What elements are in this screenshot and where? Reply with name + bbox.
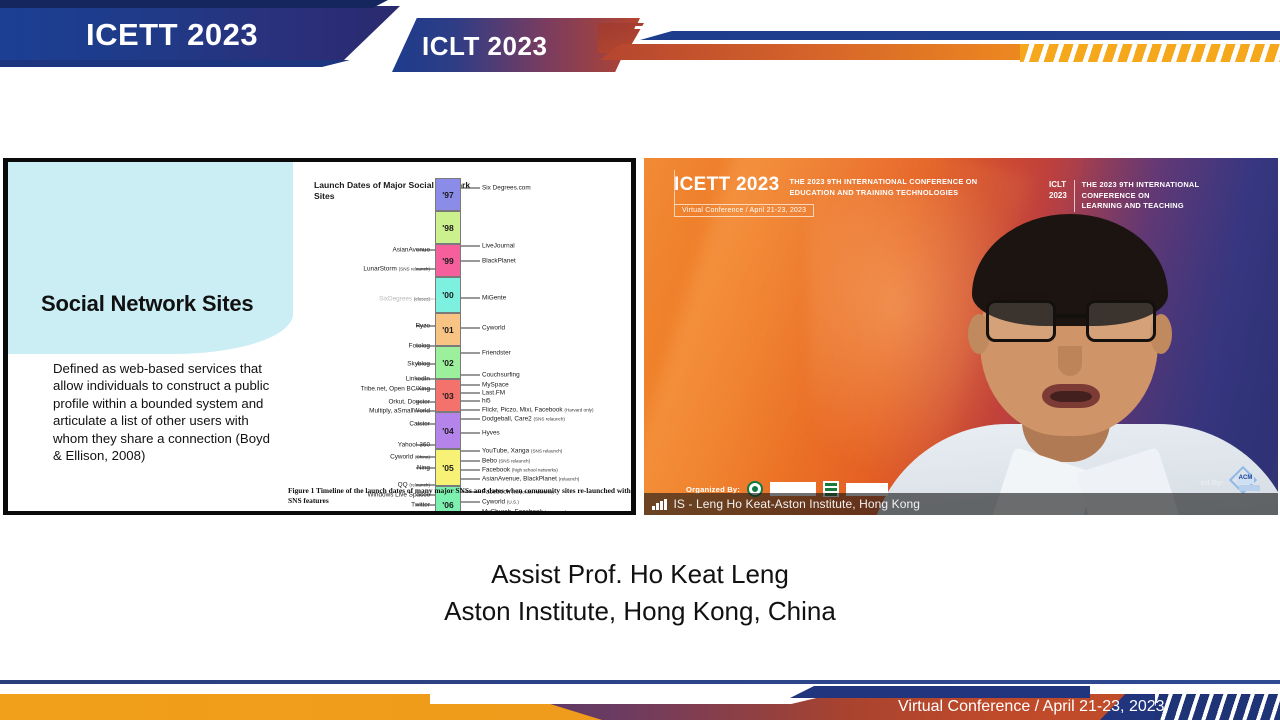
timeline-right-label: Couchsurfing bbox=[482, 372, 520, 379]
timeline-leader-line bbox=[416, 424, 435, 425]
publisher-mark-text: ACM bbox=[1237, 475, 1254, 484]
participant-name: IS - Leng Ho Keat-Aston Institute, Hong … bbox=[674, 497, 921, 511]
timeline-right-label: Cyworld bbox=[482, 325, 505, 332]
timeline-leader-line bbox=[461, 461, 480, 462]
timeline-leader-line bbox=[461, 470, 480, 471]
header-iclt-title: ICLT 2023 bbox=[422, 31, 547, 62]
content-area: Social Network Sites Defined as web-base… bbox=[0, 158, 1280, 516]
header-hatch-pattern bbox=[1020, 44, 1280, 62]
timeline-right-label: Dodgeball, Care2 (SNS relaunch) bbox=[482, 416, 565, 423]
timeline-leader-line bbox=[416, 269, 435, 270]
timeline-right-label: LiveJournal bbox=[482, 243, 515, 250]
timeline-leader-line bbox=[461, 385, 480, 386]
timeline-leader-line bbox=[461, 451, 480, 452]
timeline-band-02: '02 bbox=[435, 346, 461, 379]
header-icett-title: ICETT 2023 bbox=[86, 17, 258, 53]
timeline-leader-line bbox=[416, 326, 435, 327]
timeline-right-label: AsianAvenue, BlackPlanet (relaunch) bbox=[482, 476, 579, 483]
footer-white-wedge bbox=[430, 690, 850, 704]
timeline-leader-line bbox=[461, 433, 480, 434]
timeline-right-label: Friendster bbox=[482, 350, 511, 357]
timeline-right-label: Bebo (SNS relaunch) bbox=[482, 458, 530, 465]
timeline-band-98: '98 bbox=[435, 211, 461, 244]
timeline-leader-line bbox=[461, 188, 480, 189]
banner-virtual-tag: Virtual Conference / April 21-23, 2023 bbox=[674, 204, 814, 217]
timeline-leader-line bbox=[461, 479, 480, 480]
timeline-band-01: '01 bbox=[435, 313, 461, 346]
timeline-leader-line bbox=[461, 261, 480, 262]
timeline-leader-line bbox=[416, 299, 435, 300]
timeline-leader-line bbox=[416, 346, 435, 347]
banner-icett-desc-line1: THE 2023 9TH INTERNATIONAL CONFERENCE ON bbox=[789, 177, 977, 188]
timeline-leader-line bbox=[416, 457, 435, 458]
timeline-leader-line bbox=[461, 246, 480, 247]
timeline-right-label: Six Degrees.com bbox=[482, 185, 531, 192]
timeline-leader-line bbox=[461, 375, 480, 376]
timeline-right-label: MiGente bbox=[482, 295, 506, 302]
banner-iclt-title: ICLT bbox=[1049, 180, 1067, 191]
glasses-bridge bbox=[1056, 314, 1086, 318]
timeline-leader-line bbox=[461, 328, 480, 329]
video-panel[interactable]: ICETT 2023 THE 2023 9TH INTERNATIONAL CO… bbox=[644, 158, 1278, 515]
timeline-leader-line bbox=[461, 401, 480, 402]
timeline-leader-line bbox=[416, 402, 435, 403]
speaker-glasses bbox=[986, 300, 1156, 344]
banner-icett-title: ICETT 2023 bbox=[674, 174, 779, 194]
timeline-leader-line bbox=[416, 364, 435, 365]
timeline-leader-line bbox=[461, 419, 480, 420]
glasses-lens-right bbox=[1086, 300, 1156, 342]
footer-navy-wedge bbox=[790, 686, 1090, 698]
speaker-caption-name: Assist Prof. Ho Keat Leng bbox=[0, 556, 1280, 593]
speaker-mouth bbox=[1042, 384, 1100, 408]
header-icett-bottom-stripe bbox=[0, 60, 350, 67]
timeline-leader-line bbox=[416, 389, 435, 390]
slide-title: Social Network Sites bbox=[41, 292, 271, 316]
footer-thin-line bbox=[0, 680, 1280, 684]
timeline-right-label: Facebook (high school networks) bbox=[482, 467, 558, 474]
speaker-caption: Assist Prof. Ho Keat Leng Aston Institut… bbox=[0, 556, 1280, 630]
timeline-band-97: '97 bbox=[435, 178, 461, 211]
publisher-logo-icon: ACM bbox=[1230, 469, 1260, 495]
figure-caption: Figure 1 Timeline of the launch dates of… bbox=[288, 486, 631, 506]
presentation-slide-panel[interactable]: Social Network Sites Defined as web-base… bbox=[3, 158, 636, 515]
timeline-leader-line bbox=[416, 411, 435, 412]
timeline-band-05: '05 bbox=[435, 449, 461, 486]
slide-canvas: Social Network Sites Defined as web-base… bbox=[8, 162, 631, 511]
published-by-group: ed By: ACM bbox=[1201, 469, 1260, 495]
timeline-right-label: Hyves bbox=[482, 430, 500, 437]
timeline-bar: '97'98'99'00'01'02'03'04'05'06 bbox=[435, 178, 461, 511]
header-blue-stripe bbox=[640, 31, 1280, 40]
timeline-right-label: Flickr, Piczo, Mixi, Facebook (Harvard o… bbox=[482, 407, 594, 414]
timeline-leader-line bbox=[416, 379, 435, 380]
timeline-right-label: Last.FM bbox=[482, 390, 505, 397]
footer-hatch-pattern bbox=[1155, 694, 1280, 720]
speaker-caption-affiliation: Aston Institute, Hong Kong, China bbox=[0, 593, 1280, 630]
timeline-right-label: MySpace bbox=[482, 382, 509, 389]
timeline-leader-line bbox=[416, 468, 435, 469]
timeline-figure: Launch Dates of Major Social Network Sit… bbox=[280, 168, 631, 511]
banner-icett-desc: THE 2023 9TH INTERNATIONAL CONFERENCE ON… bbox=[789, 174, 977, 198]
participant-name-bar: IS - Leng Ho Keat-Aston Institute, Hong … bbox=[644, 493, 1278, 515]
published-by-label: ed By: bbox=[1201, 478, 1224, 487]
signal-bars-icon bbox=[652, 499, 667, 510]
speaker-webcam-figure bbox=[902, 196, 1262, 515]
slide-tint-shape bbox=[8, 162, 293, 354]
timeline-band-00: '00 bbox=[435, 277, 461, 313]
screen-root: ICETT 2023 ICLT 2023 Social Network Site… bbox=[0, 0, 1280, 720]
banner-divider bbox=[674, 170, 675, 204]
slide-left-column: Social Network Sites Defined as web-base… bbox=[8, 162, 293, 511]
timeline-right-label: YouTube, Xanga (SNS relaunch) bbox=[482, 448, 562, 455]
footer-text: Virtual Conference / April 21-23, 2023 bbox=[898, 698, 1165, 716]
timeline-right-label: BlackPlanet bbox=[482, 258, 516, 265]
timeline-leader-line bbox=[416, 250, 435, 251]
timeline-band-04: '04 bbox=[435, 412, 461, 449]
timeline-band-99: '99 bbox=[435, 244, 461, 277]
timeline-right-label: MyChurch, Facebook (everyone) bbox=[482, 509, 566, 512]
page-header: ICETT 2023 ICLT 2023 bbox=[0, 0, 1280, 72]
slide-body-text: Defined as web-based services that allow… bbox=[53, 360, 273, 465]
figure-caption-label: Figure 1 Timeline of the launch dates of… bbox=[288, 486, 631, 505]
page-footer: Virtual Conference / April 21-23, 2023 bbox=[0, 676, 1280, 720]
timeline-leader-line bbox=[416, 445, 435, 446]
header-icett-top-stripe bbox=[0, 0, 388, 8]
timeline-leader-line bbox=[461, 298, 480, 299]
speaker-mouth-inner bbox=[1050, 391, 1092, 402]
speaker-nose bbox=[1058, 346, 1082, 376]
glasses-lens-left bbox=[986, 300, 1056, 342]
timeline-leader-line bbox=[461, 410, 480, 411]
timeline-leader-line bbox=[461, 393, 480, 394]
timeline-right-label: hi5 bbox=[482, 398, 491, 405]
timeline-band-03: '03 bbox=[435, 379, 461, 412]
timeline-leader-line bbox=[461, 353, 480, 354]
publisher-subtext-mark bbox=[1239, 485, 1260, 491]
